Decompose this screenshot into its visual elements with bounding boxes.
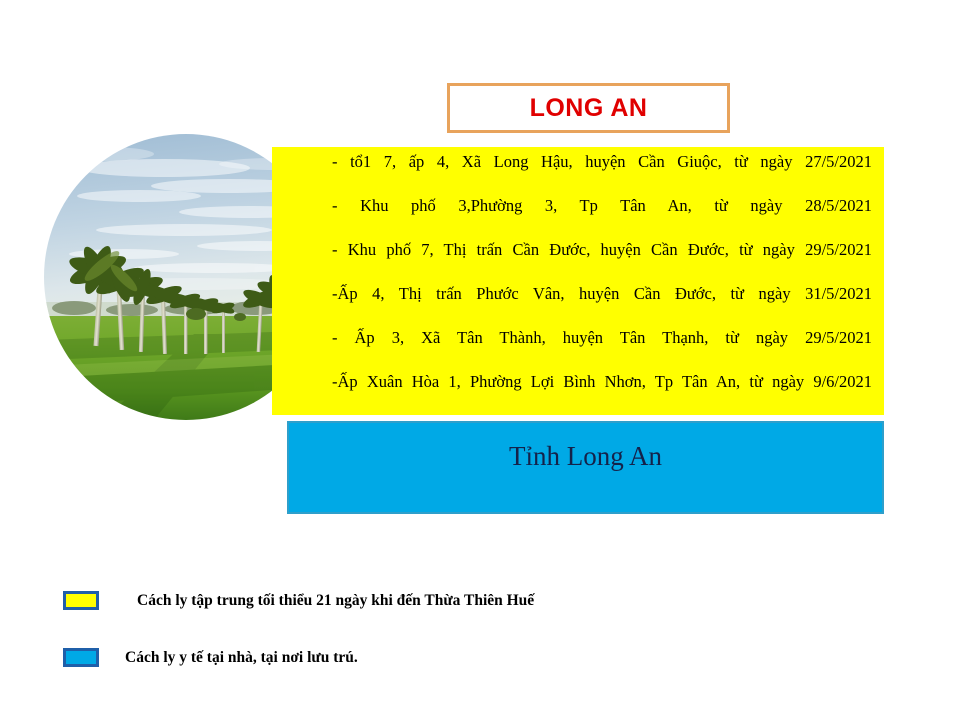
locality-item: - tổ1 7, ấp 4, Xã Long Hậu, huyện Cần Gi…: [332, 153, 872, 190]
legend-swatch-blue-icon: [63, 648, 99, 667]
province-banner-label: Tỉnh Long An: [509, 441, 662, 494]
quarantine-localities-panel: - tổ1 7, ấp 4, Xã Long Hậu, huyện Cần Gi…: [272, 147, 884, 415]
legend-item-blue: Cách ly y tế tại nhà, tại nơi lưu trú.: [63, 648, 358, 667]
locality-item: - Ấp 3, Xã Tân Thành, huyện Tân Thạnh, t…: [332, 329, 872, 366]
locality-item: - Khu phố 7, Thị trấn Cần Đước, huyện Cầ…: [332, 241, 872, 278]
locality-item: -Ấp Xuân Hòa 1, Phường Lợi Bình Nhơn, Tp…: [332, 373, 872, 410]
legend-swatch-yellow-icon: [63, 591, 99, 610]
legend-label: Cách ly y tế tại nhà, tại nơi lưu trú.: [125, 649, 358, 667]
page-title: LONG AN: [530, 96, 648, 121]
province-banner: Tỉnh Long An: [287, 421, 884, 514]
locality-item: - Khu phố 3,Phường 3, Tp Tân An, từ ngày…: [332, 197, 872, 234]
legend-label: Cách ly tập trung tối thiểu 21 ngày khi …: [137, 592, 534, 610]
legend-item-yellow: Cách ly tập trung tối thiểu 21 ngày khi …: [63, 591, 534, 610]
locality-item: -Ấp 4, Thị trấn Phước Vân, huyện Cần Đướ…: [332, 285, 872, 322]
province-title-box: LONG AN: [447, 83, 730, 133]
